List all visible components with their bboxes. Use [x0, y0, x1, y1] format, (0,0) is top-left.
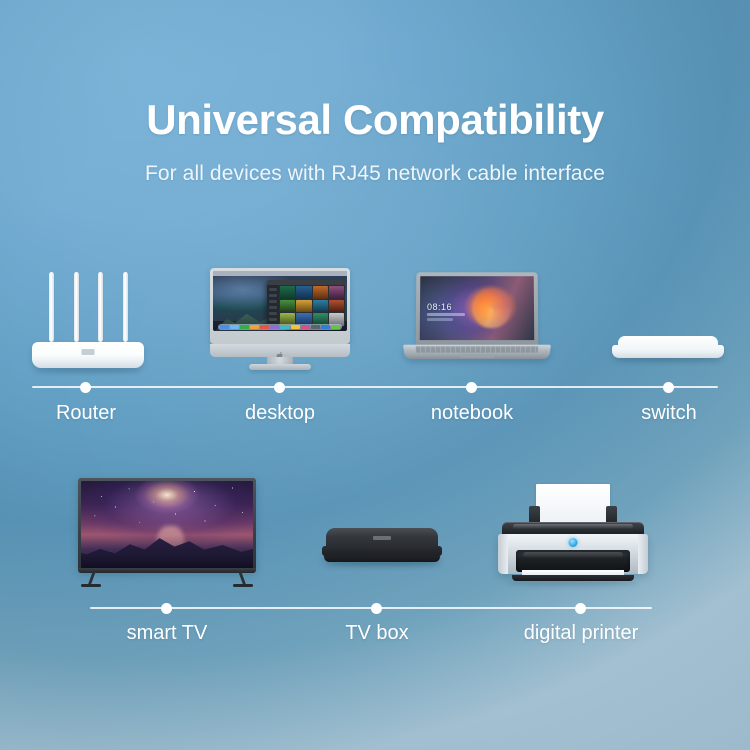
switch-top [618, 336, 718, 348]
laptop-screen: 08:16 [420, 276, 535, 340]
router-antenna [98, 272, 103, 342]
laptop-screen-text-line [427, 313, 465, 316]
connector-dot-tv-box [371, 603, 382, 614]
connector-dot-notebook [466, 382, 477, 393]
printer-output-slot [516, 550, 630, 572]
router-icon [32, 272, 144, 372]
imac-desktop-icon [210, 268, 350, 372]
connector-rail-row-1 [32, 386, 718, 388]
laptop-lid: 08:16 [416, 272, 539, 346]
page-title: Universal Compatibility [0, 96, 750, 144]
network-switch-icon [612, 336, 724, 370]
connector-dot-switch [663, 382, 674, 393]
tv-foot [81, 584, 101, 587]
imac-window-sidebar [267, 285, 279, 327]
laptop-icon: 08:16 [404, 272, 550, 372]
tv-foot [233, 584, 253, 587]
device-label-digital-printer: digital printer [500, 622, 662, 645]
router-antenna [49, 272, 54, 342]
device-label-notebook: notebook [406, 402, 538, 425]
connector-dot-router [80, 382, 91, 393]
tv-box-brand-mark [373, 536, 391, 540]
printer-paper [536, 484, 610, 524]
imac-photo-window [267, 280, 345, 327]
router-shadow [36, 368, 140, 373]
tv-chin [78, 568, 256, 573]
imac-screen [213, 271, 347, 331]
device-label-desktop: desktop [214, 402, 346, 425]
connector-dot-digital-printer [575, 603, 586, 614]
printer-power-led [569, 538, 578, 547]
router-antenna [74, 272, 79, 342]
device-label-tv-box: TV box [311, 622, 443, 645]
apple-logo-icon [277, 347, 284, 355]
laptop-keyboard [416, 346, 539, 352]
promo-banner: Universal Compatibility For all devices … [0, 0, 750, 750]
tv-box-top [326, 528, 438, 550]
router-antenna [123, 272, 128, 342]
connector-dot-smart-tv [161, 603, 172, 614]
connector-dot-desktop [274, 382, 285, 393]
tv-screen [81, 481, 253, 568]
device-label-switch: switch [603, 402, 735, 425]
imac-stand-foot [249, 364, 311, 370]
laptop-trackpad [460, 354, 494, 358]
laptop-clock: 08:16 [427, 302, 452, 312]
device-label-router: Router [20, 402, 152, 425]
set-top-box-icon [322, 528, 442, 572]
television-icon [78, 478, 256, 586]
printer-icon [498, 484, 648, 586]
router-logo [82, 349, 95, 355]
imac-dock [218, 324, 342, 330]
printer-base [512, 575, 634, 581]
laptop-screen-text-line [427, 318, 453, 321]
imac-menubar [213, 271, 347, 276]
router-body [32, 342, 144, 368]
device-label-smart-tv: smart TV [101, 622, 233, 645]
imac-photo-grid [280, 286, 344, 326]
page-subtitle: For all devices with RJ45 network cable … [0, 162, 750, 186]
